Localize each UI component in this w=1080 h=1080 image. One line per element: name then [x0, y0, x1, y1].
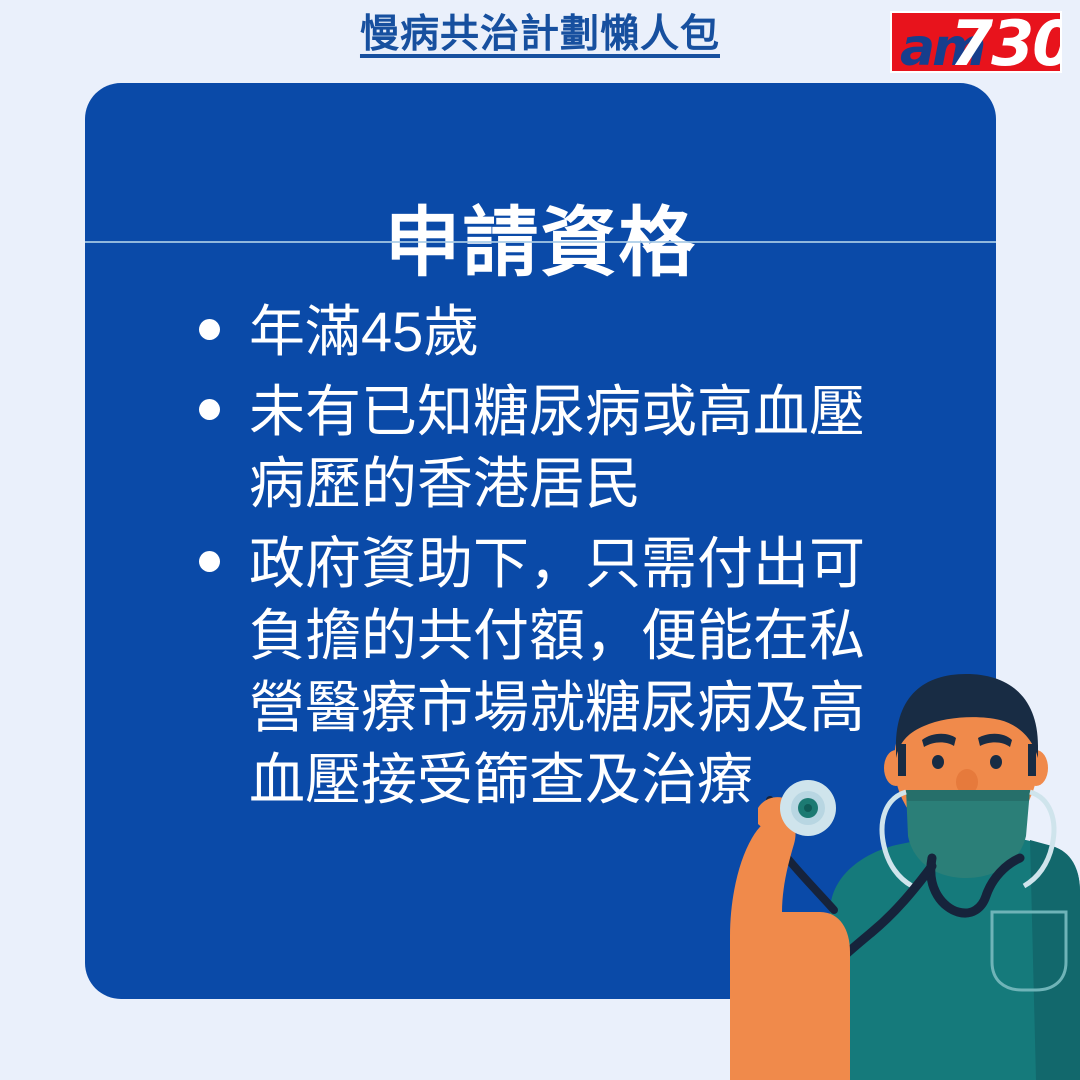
list-item: 未有已知糖尿病或高血壓病歷的香港居民 [189, 376, 909, 520]
bullet-dot-icon [199, 551, 220, 572]
card-title: 申請資格 [85, 201, 996, 287]
mask-top-band [906, 790, 1030, 801]
sideburn-right [1028, 744, 1036, 776]
eye-right [990, 755, 1002, 769]
list-item-label: 年滿45歲 [249, 296, 909, 368]
doctor-illustration [700, 640, 1080, 1080]
list-item: 年滿45歲 [189, 296, 909, 368]
page-header: 慢病共治計劃懶人包 am 730 [0, 0, 1080, 83]
bullet-dot-icon [199, 399, 220, 420]
sideburn-left [898, 744, 906, 776]
eye-left [932, 755, 944, 769]
list-item-label: 未有已知糖尿病或高血壓病歷的香港居民 [249, 376, 909, 520]
am730-logo: am 730 [890, 11, 1062, 73]
arm-and-hand [730, 816, 850, 1080]
bullet-dot-icon [199, 319, 220, 340]
card-divider [85, 241, 996, 243]
logo-730-text: 730 [950, 14, 1062, 73]
chestpiece-center [804, 804, 812, 812]
